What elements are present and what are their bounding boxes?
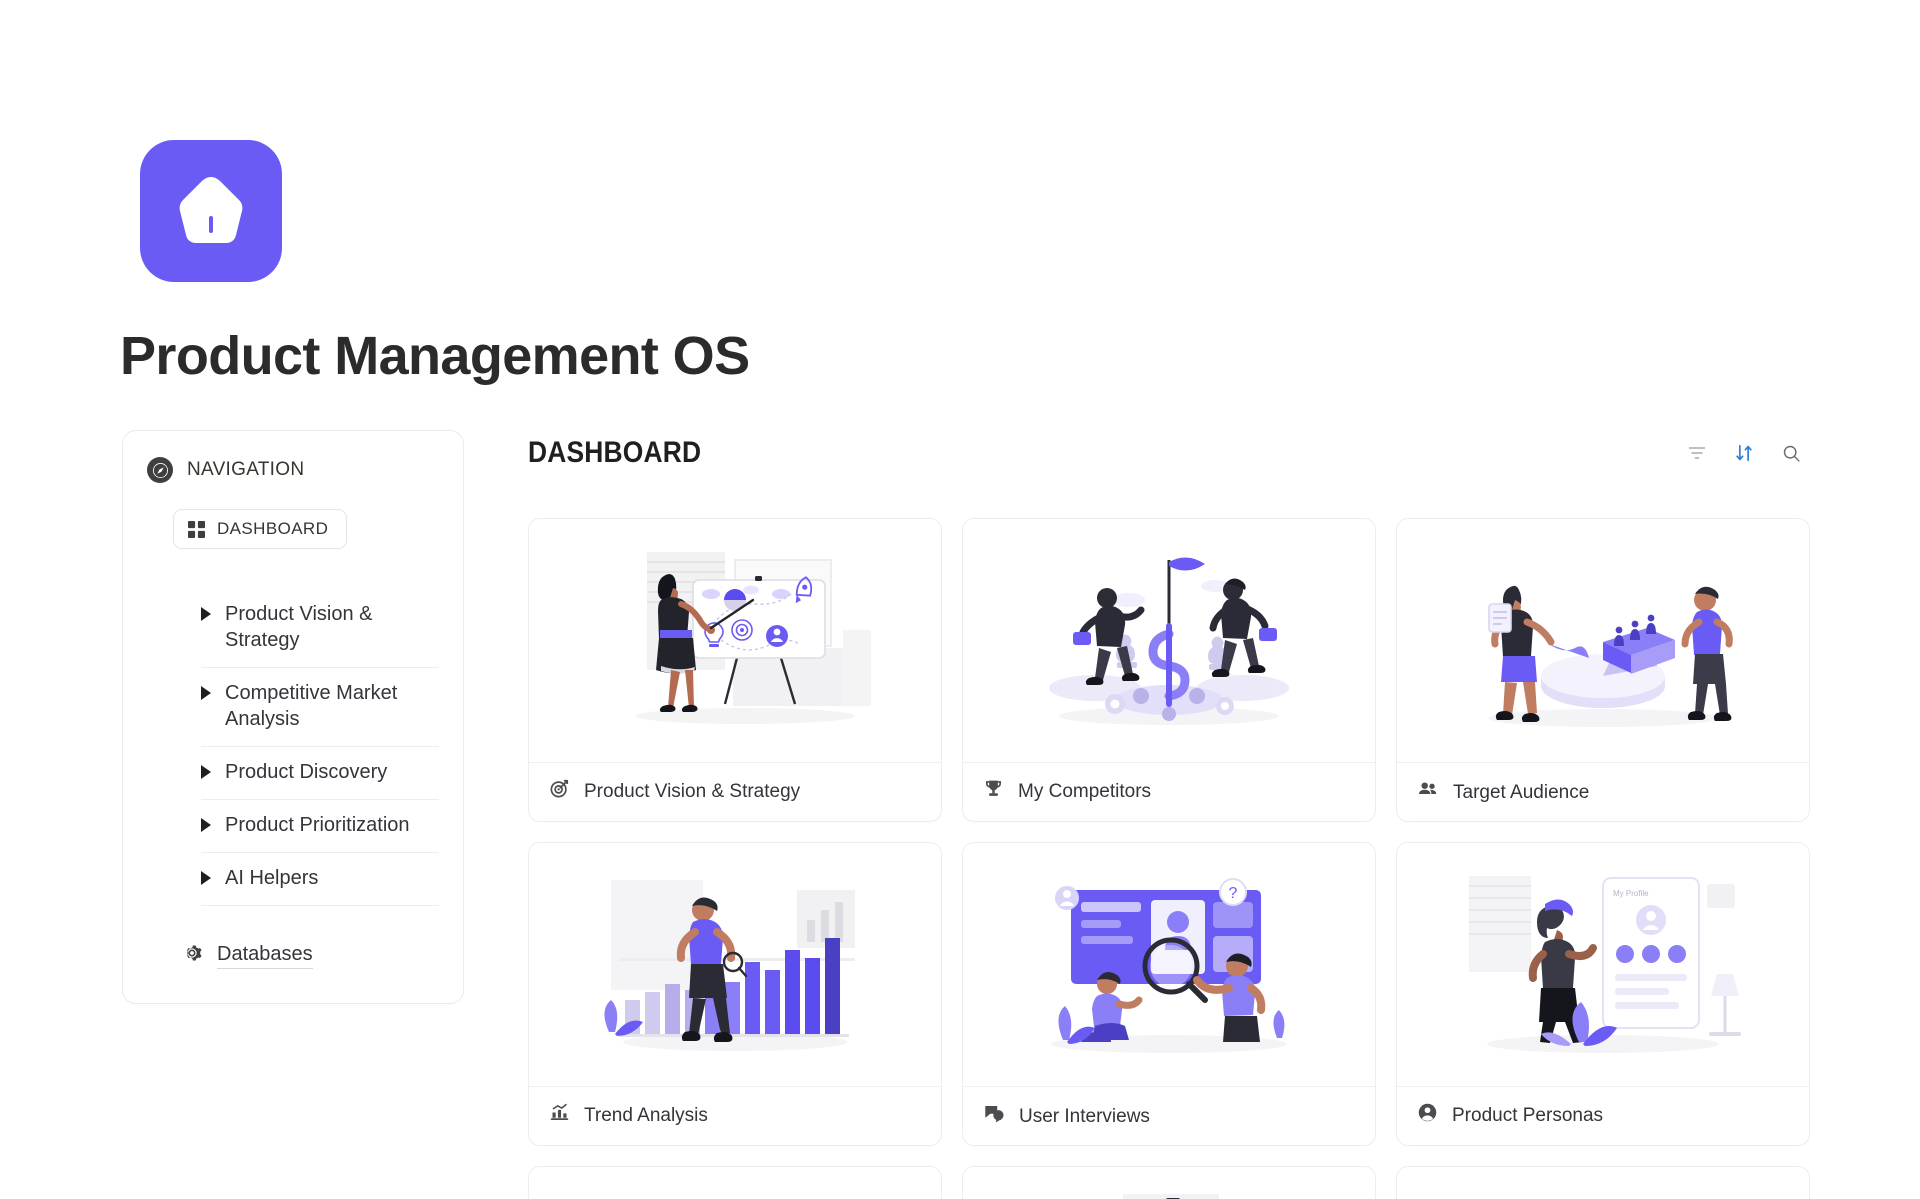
page-title: Product Management OS bbox=[120, 325, 750, 387]
card-footer: User Interviews bbox=[963, 1087, 1375, 1145]
card-my-competitors[interactable]: My Competitors bbox=[962, 518, 1376, 822]
card-label: My Competitors bbox=[1018, 782, 1151, 801]
card-footer: Trend Analysis bbox=[529, 1087, 941, 1144]
card-illustration-clipboard-checklist-team bbox=[963, 1167, 1375, 1199]
chat-bubbles-icon bbox=[983, 1102, 1005, 1130]
sidebar-item-dashboard[interactable]: DASHBOARD bbox=[173, 509, 347, 549]
card-target-audience[interactable]: Target Audience bbox=[1396, 518, 1810, 822]
compass-icon bbox=[147, 457, 173, 483]
card-row3-checklist[interactable] bbox=[962, 1166, 1376, 1199]
sidebar-item-competitive-market-analysis[interactable]: Competitive Market Analysis bbox=[201, 668, 439, 747]
search-icon[interactable] bbox=[1781, 443, 1802, 464]
card-illustration-woman-presenting-whiteboard bbox=[529, 519, 941, 763]
main-content: DASHBOARD bbox=[528, 430, 1828, 1199]
triangle-right-icon bbox=[201, 607, 211, 621]
filter-icon[interactable] bbox=[1687, 443, 1707, 463]
card-label: Product Vision & Strategy bbox=[584, 782, 800, 801]
page-root: Product Management OS NAVIGATION bbox=[0, 0, 1920, 1199]
card-trend-analysis[interactable]: Trend Analysis bbox=[528, 842, 942, 1146]
sidebar-nav-header: NAVIGATION bbox=[147, 457, 439, 483]
sidebar-item-product-discovery[interactable]: Product Discovery bbox=[201, 747, 439, 800]
card-footer: Product Personas bbox=[1397, 1087, 1809, 1144]
grid-icon bbox=[188, 521, 205, 538]
gear-icon bbox=[181, 942, 203, 969]
card-product-vision-strategy[interactable]: Product Vision & Strategy bbox=[528, 518, 942, 822]
sidebar-item-dashboard-label: DASHBOARD bbox=[217, 519, 328, 539]
sidebar-item-databases[interactable]: Databases bbox=[181, 942, 439, 969]
sidebar-nav-list: Product Vision & Strategy Competitive Ma… bbox=[201, 589, 439, 906]
svg-text:My Profile: My Profile bbox=[1613, 889, 1649, 898]
card-label: Product Personas bbox=[1452, 1106, 1603, 1125]
card-footer: Target Audience bbox=[1397, 763, 1809, 821]
pentagon-house-logo-icon bbox=[169, 169, 253, 253]
main-header: DASHBOARD bbox=[528, 430, 1828, 476]
card-label: User Interviews bbox=[1019, 1107, 1150, 1126]
card-label: Target Audience bbox=[1453, 783, 1589, 802]
svg-text:?: ? bbox=[1229, 885, 1238, 902]
sidebar-nav-label: NAVIGATION bbox=[187, 459, 304, 481]
dashboard-card-grid: Product Vision & Strategy bbox=[528, 518, 1828, 1199]
card-footer: Product Vision & Strategy bbox=[529, 763, 941, 820]
triangle-right-icon bbox=[201, 871, 211, 885]
main-title: DASHBOARD bbox=[528, 436, 701, 470]
bar-chart-icon bbox=[549, 1102, 570, 1129]
card-illustration-audience-segment-chart bbox=[1397, 519, 1809, 763]
card-illustration-man-growth-bar-chart bbox=[529, 843, 941, 1087]
sidebar: NAVIGATION DASHBOARD Product Vision & St… bbox=[122, 430, 464, 1004]
trophy-icon bbox=[983, 778, 1004, 805]
sidebar-item-label: Competitive Market Analysis bbox=[225, 680, 415, 732]
app-logo[interactable] bbox=[140, 140, 282, 282]
triangle-right-icon bbox=[201, 818, 211, 832]
card-illustration-maze-question-discovery: ? bbox=[529, 1167, 941, 1199]
card-illustration-chess-competition-flag bbox=[963, 519, 1375, 763]
sidebar-item-label: Product Prioritization bbox=[225, 812, 410, 838]
sidebar-item-product-prioritization[interactable]: Product Prioritization bbox=[201, 800, 439, 853]
card-row3-discovery[interactable]: ? bbox=[528, 1166, 942, 1199]
account-circle-icon bbox=[1417, 1102, 1438, 1129]
card-row3-kanban[interactable] bbox=[1396, 1166, 1810, 1199]
sidebar-item-product-vision-strategy[interactable]: Product Vision & Strategy bbox=[201, 589, 439, 668]
card-footer: My Competitors bbox=[963, 763, 1375, 820]
card-product-personas[interactable]: My Profile bbox=[1396, 842, 1810, 1146]
card-user-interviews[interactable]: ? bbox=[962, 842, 1376, 1146]
sort-icon[interactable] bbox=[1733, 442, 1755, 464]
sidebar-item-label: Product Discovery bbox=[225, 759, 387, 785]
triangle-right-icon bbox=[201, 765, 211, 779]
triangle-right-icon bbox=[201, 686, 211, 700]
card-label: Trend Analysis bbox=[584, 1106, 708, 1125]
people-icon bbox=[1417, 778, 1439, 806]
card-illustration-woman-persona-profile: My Profile bbox=[1397, 843, 1809, 1087]
main-toolbar bbox=[1687, 442, 1828, 464]
sidebar-databases-label: Databases bbox=[217, 943, 313, 969]
sidebar-item-label: AI Helpers bbox=[225, 865, 318, 891]
sidebar-item-ai-helpers[interactable]: AI Helpers bbox=[201, 853, 439, 906]
card-illustration-kanban-board-clock bbox=[1397, 1167, 1809, 1199]
card-illustration-interview-magnifier-profiles: ? bbox=[963, 843, 1375, 1087]
target-icon bbox=[549, 778, 570, 805]
sidebar-item-label: Product Vision & Strategy bbox=[225, 601, 415, 653]
